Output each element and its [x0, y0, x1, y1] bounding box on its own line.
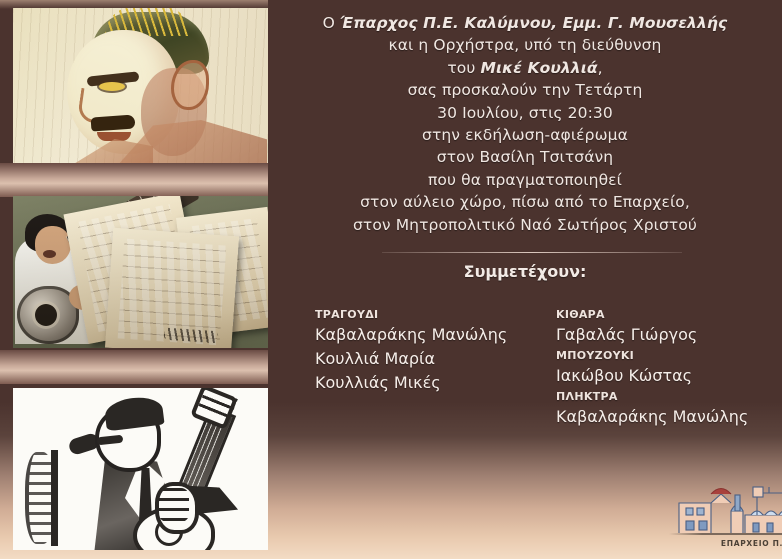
- participant-role-label: ΚΙΘΑΡΑ: [556, 306, 771, 323]
- image-player-and-manuscripts: [13, 196, 268, 348]
- participant-name: Καβαλαράκης Μανώλης: [556, 405, 771, 429]
- singer-fingers: [159, 488, 189, 522]
- participant-name: Καβαλαράκης Μανώλης: [315, 323, 525, 347]
- participant-name: Ιακώβου Κώστας: [556, 364, 771, 388]
- participant-role-label: ΜΠΟΥΖΟΥΚΙ: [556, 347, 771, 364]
- invitation-line: σας προσκαλούν την Τετάρτη: [268, 79, 782, 101]
- invitation-line: στον Μητροπολιτικό Ναό Σωτήρος Χριστού: [268, 214, 782, 236]
- invitation-line: και η Ορχήστρα, υπό τη διεύθυνση: [268, 34, 782, 56]
- participants-columns: ΤΡΑΓΟΥΔΙΚαβαλαράκης ΜανώληςΚουλλιά Μαρία…: [268, 306, 782, 456]
- participants-heading: Συμμετέχουν:: [268, 262, 782, 281]
- invitation-line: που θα πραγματοποιηθεί: [268, 169, 782, 191]
- image-strip: [0, 0, 268, 559]
- invitation-emphasis: Έπαρχος Π.Ε. Καλύμνου, Εμμ. Γ. Μουσελλής: [340, 14, 727, 32]
- invitation-line: στην εκδήλωση-αφιέρωμα: [268, 124, 782, 146]
- participant-name: Κουλλιά Μαρία: [315, 347, 525, 371]
- strip-seam-upper: [0, 163, 268, 197]
- portrait-eye: [99, 82, 125, 91]
- invitation-line: στον αύλειο χώρο, πίσω από το Επαρχείο,: [268, 191, 782, 213]
- invitation-line: στον Βασίλη Τσιτσάνη: [268, 146, 782, 168]
- invitation-emphasis: Μικέ Κουλλιά: [480, 59, 597, 77]
- microphone-stand: [51, 450, 58, 546]
- participant-name: Κουλλιάς Μικές: [315, 371, 525, 395]
- poster-content: Ο Έπαρχος Π.Ε. Καλύμνου, Εμμ. Γ. Μουσελλ…: [268, 0, 782, 559]
- logo-baseline: [669, 533, 782, 535]
- participant-name: Γαβαλάς Γιώργος: [556, 323, 771, 347]
- participant-role-label: ΤΡΑΓΟΥΔΙ: [315, 306, 525, 323]
- section-divider: [382, 252, 682, 253]
- kalymnos-skyline-logo: ΕΠΑΡΧΕΙΟ Π. Ε. ΚΑΛΥΜΝΟΥ: [657, 481, 782, 553]
- photo-vignette: [13, 196, 268, 348]
- participant-role-label: ΠΛΗΚΤΡΑ: [556, 388, 771, 405]
- invitation-text: Ο Έπαρχος Π.Ε. Καλύμνου, Εμμ. Γ. Μουσελλ…: [268, 12, 782, 236]
- invitation-line: Ο Έπαρχος Π.Ε. Καλύμνου, Εμμ. Γ. Μουσελλ…: [268, 12, 782, 34]
- event-poster: Ο Έπαρχος Π.Ε. Καλύμνου, Εμμ. Γ. Μουσελλ…: [0, 0, 782, 559]
- strip-seam-lower: [0, 350, 268, 384]
- participants-column-right: ΚΙΘΑΡΑΓαβαλάς ΓιώργοςΜΠΟΥΖΟΥΚΙΙακώβου Κώ…: [556, 306, 771, 429]
- skyline-icon: [657, 481, 782, 537]
- invitation-line: 30 Ιουλίου, στις 20:30: [268, 102, 782, 124]
- image-sketch-singer: [13, 388, 268, 550]
- participants-column-left: ΤΡΑΓΟΥΔΙΚαβαλαράκης ΜανώληςΚουλλιά Μαρία…: [315, 306, 525, 395]
- image-sketch-portrait: [13, 8, 268, 163]
- logo-caption: ΕΠΑΡΧΕΙΟ Π. Ε. ΚΑΛΥΜΝΟΥ: [657, 539, 782, 548]
- invitation-line: του Μικέ Κουλλιά,: [268, 57, 782, 79]
